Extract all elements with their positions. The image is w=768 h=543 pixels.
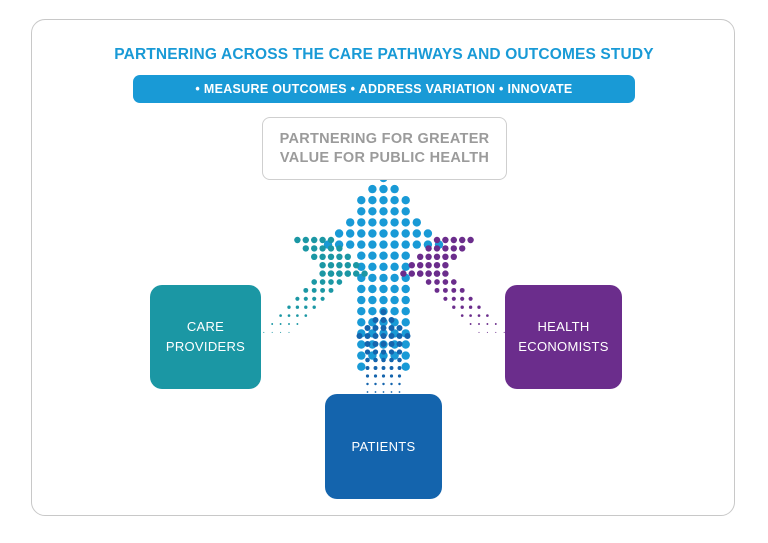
value-line-2: VALUE FOR PUBLIC HEALTH (280, 149, 489, 168)
health-economists-line-2: ECONOMISTS (518, 337, 608, 357)
health-economists-line-1: HEALTH (537, 317, 589, 337)
care-providers-line-2: PROVIDERS (166, 337, 245, 357)
patients-box[interactable]: PATIENTS (325, 394, 442, 499)
diagram-canvas: PARTNERING ACROSS THE CARE PATHWAYS AND … (0, 0, 768, 543)
patients-line-1: PATIENTS (351, 437, 415, 457)
subtitle-text: • MEASURE OUTCOMES • ADDRESS VARIATION •… (195, 82, 572, 96)
value-statement-box: PARTNERING FOR GREATER VALUE FOR PUBLIC … (262, 117, 507, 180)
care-providers-line-1: CARE (187, 317, 224, 337)
care-providers-box[interactable]: CARE PROVIDERS (150, 285, 261, 389)
subtitle-banner: • MEASURE OUTCOMES • ADDRESS VARIATION •… (133, 75, 635, 103)
value-line-1: PARTNERING FOR GREATER (280, 130, 490, 149)
page-title: PARTNERING ACROSS THE CARE PATHWAYS AND … (0, 46, 768, 64)
health-economists-box[interactable]: HEALTH ECONOMISTS (505, 285, 622, 389)
